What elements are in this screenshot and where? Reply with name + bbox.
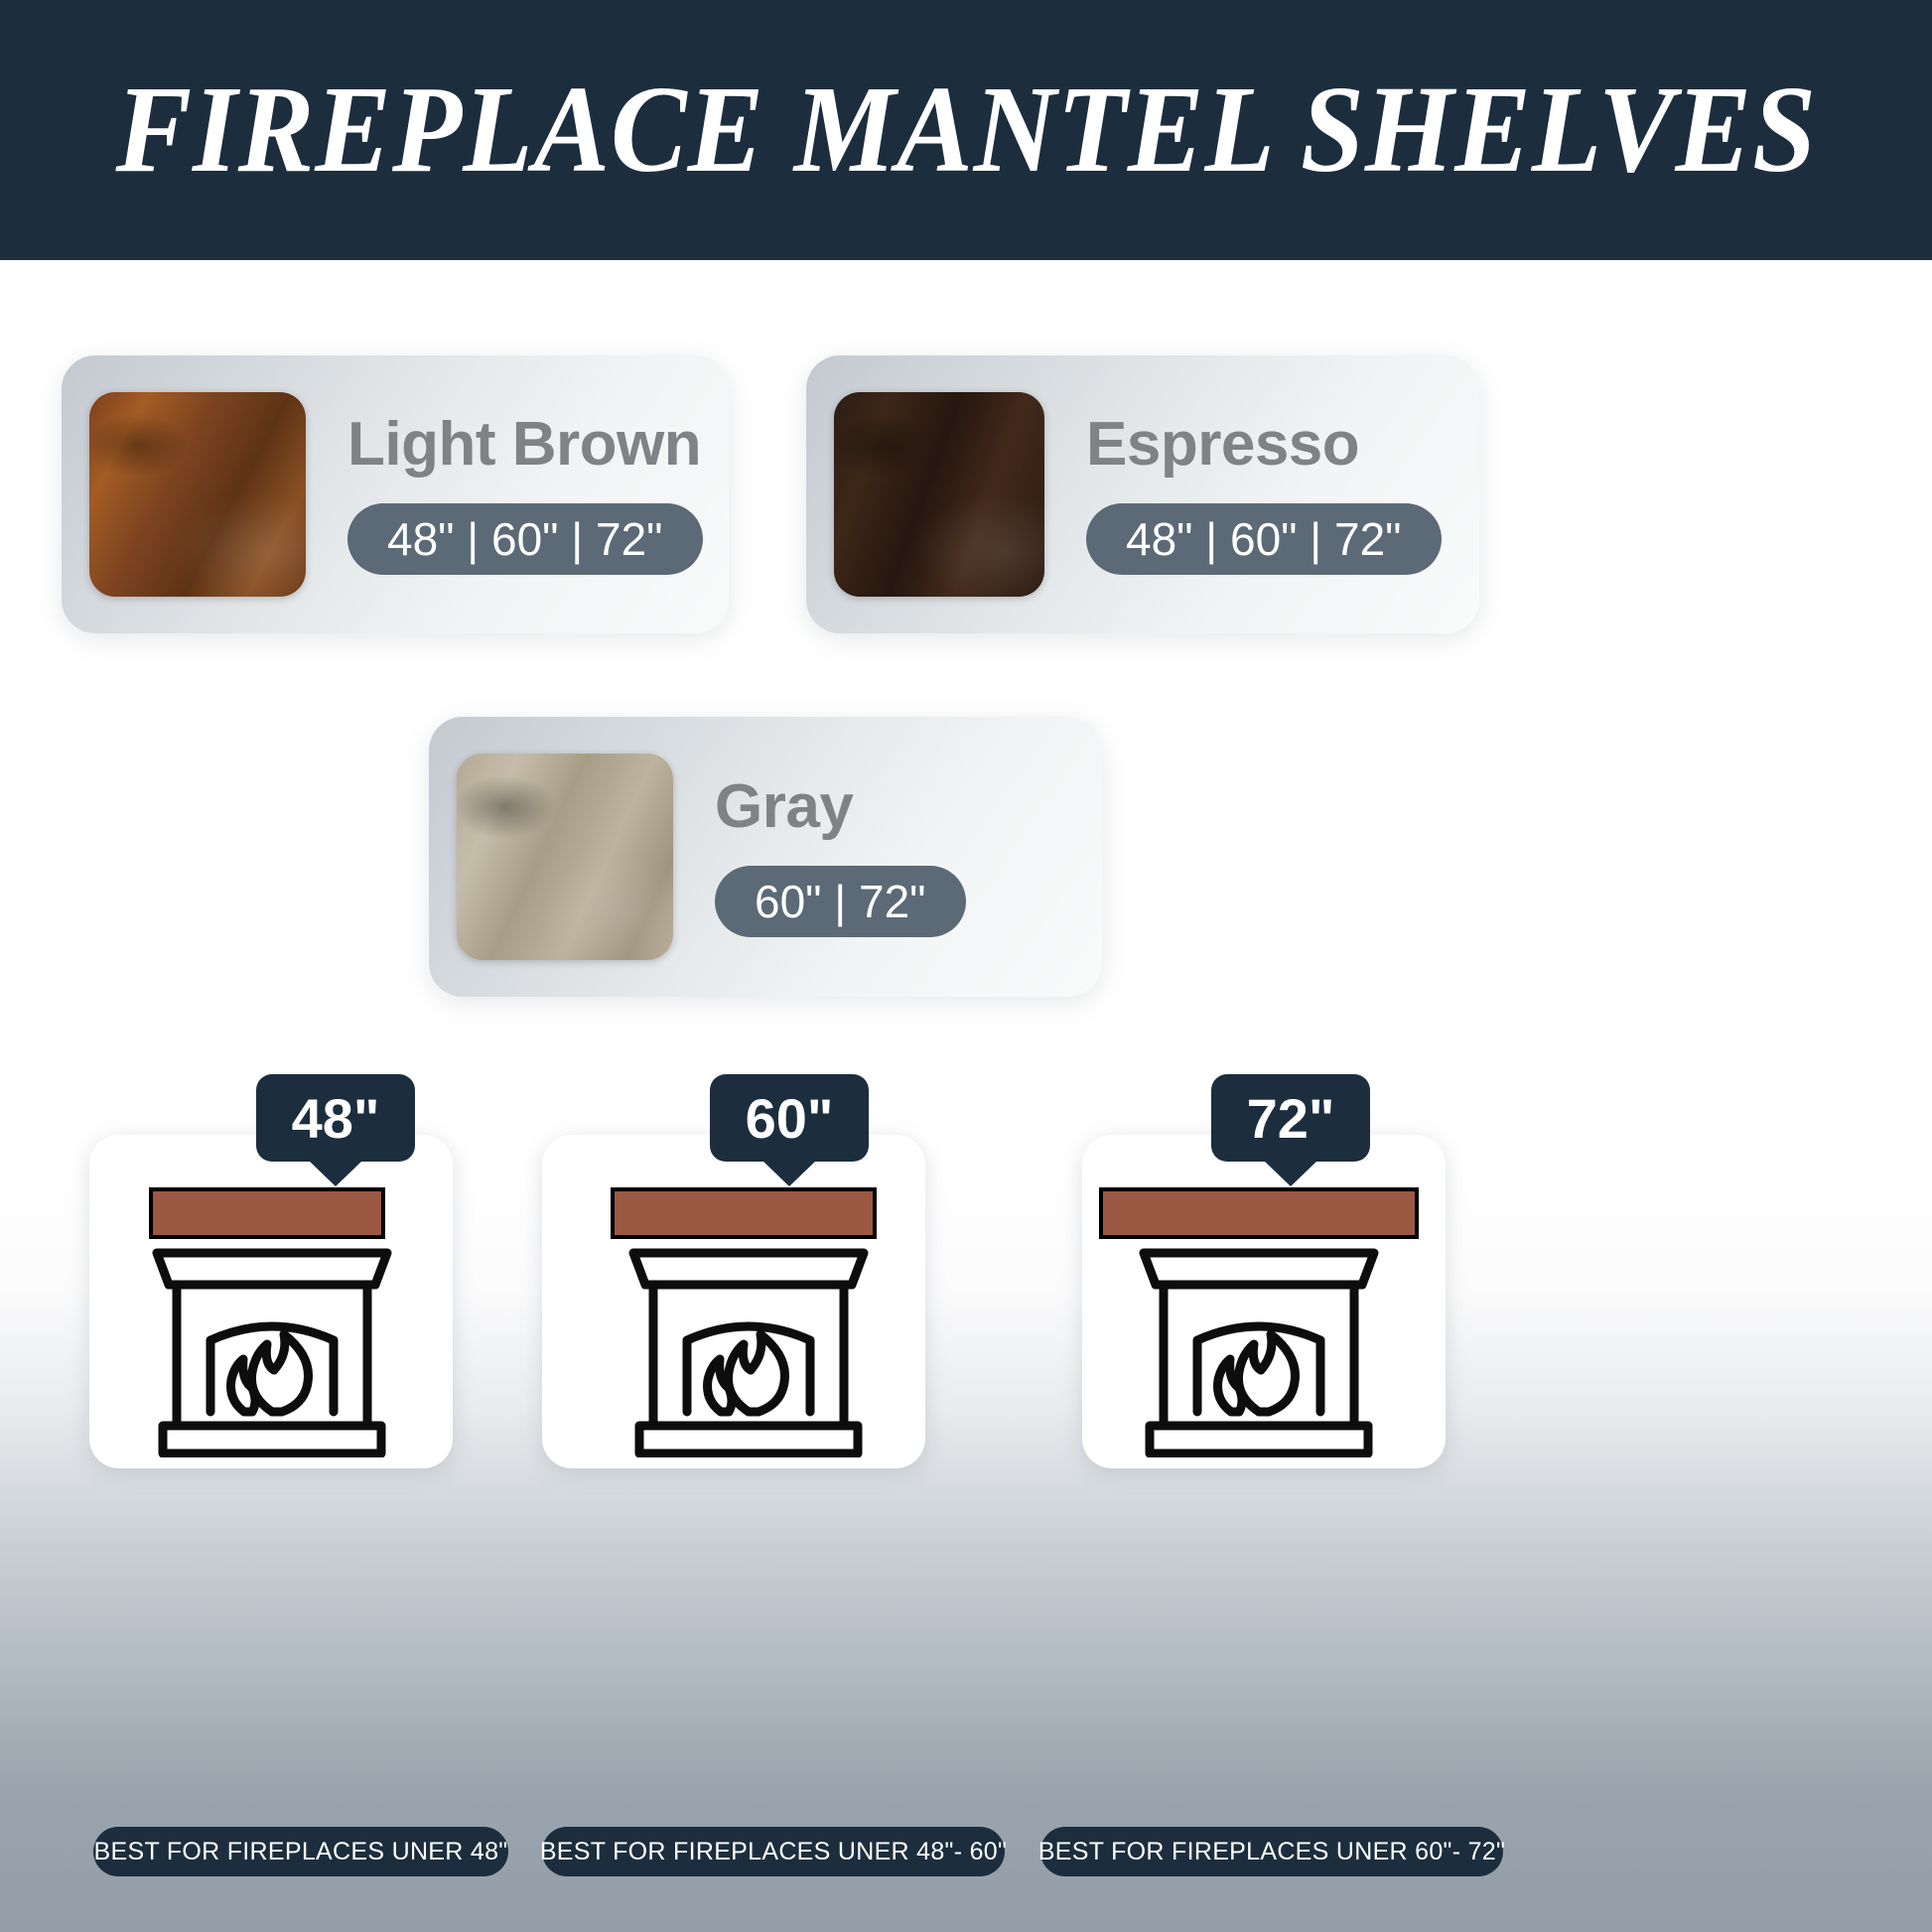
fireplace-with-mantel-icon-72 [1136, 1231, 1382, 1457]
wood-swatch-gray [457, 754, 673, 960]
finish-card-body: Light Brown 48" | 60" | 72" [347, 414, 703, 575]
callout-tail [309, 1161, 362, 1186]
finish-name: Espresso [1086, 414, 1442, 476]
caption-pill-72: BEST FOR FIREPLACES UNER 60"- 72" [1040, 1827, 1503, 1876]
size-callout-72: 72" [1211, 1074, 1370, 1162]
finish-name: Light Brown [347, 414, 703, 476]
caption-pill-48: BEST FOR FIREPLACES UNER 48" [93, 1827, 508, 1876]
wood-swatch-light-brown [89, 392, 306, 597]
finish-card-espresso[interactable]: Espresso 48" | 60" | 72" [806, 355, 1479, 633]
size-guide-item-60: 60" [477, 1052, 1052, 1926]
finish-card-body: Espresso 48" | 60" | 72" [1086, 414, 1442, 575]
infographic-page: FIREPLACE MANTEL SHELVES Light Brown 48"… [0, 0, 1932, 1932]
size-callout-label: 60" [746, 1086, 834, 1151]
caption-pill-60: BEST FOR FIREPLACES UNER 48"- 60" [542, 1827, 1005, 1876]
finish-card-light-brown[interactable]: Light Brown 48" | 60" | 72" [62, 355, 729, 633]
finish-card-body: Gray 60" | 72" [715, 776, 966, 937]
size-guide-item-72: 72" [973, 1052, 1588, 1926]
size-callout-48: 48" [256, 1074, 415, 1162]
page-title: FIREPLACE MANTEL SHELVES [115, 69, 1816, 193]
finish-name: Gray [715, 776, 966, 838]
finish-sizes-pill: 48" | 60" | 72" [347, 503, 703, 575]
size-callout-label: 72" [1247, 1086, 1335, 1151]
mantel-shelf-bar-48 [149, 1187, 385, 1239]
callout-tail [762, 1161, 816, 1186]
finish-card-gray[interactable]: Gray 60" | 72" [429, 717, 1102, 997]
wood-swatch-espresso [834, 392, 1044, 597]
mantel-shelf-bar-60 [611, 1187, 877, 1239]
callout-tail [1264, 1161, 1317, 1186]
fireplace-with-mantel-icon-48 [149, 1231, 395, 1457]
mantel-shelf-bar-72 [1099, 1187, 1419, 1239]
header-bar: FIREPLACE MANTEL SHELVES [0, 0, 1932, 260]
fireplace-with-mantel-icon-60 [625, 1231, 872, 1457]
finish-sizes-pill: 60" | 72" [715, 866, 966, 937]
size-callout-label: 48" [292, 1086, 380, 1151]
size-callout-60: 60" [710, 1074, 869, 1162]
finish-sizes-pill: 48" | 60" | 72" [1086, 503, 1442, 575]
